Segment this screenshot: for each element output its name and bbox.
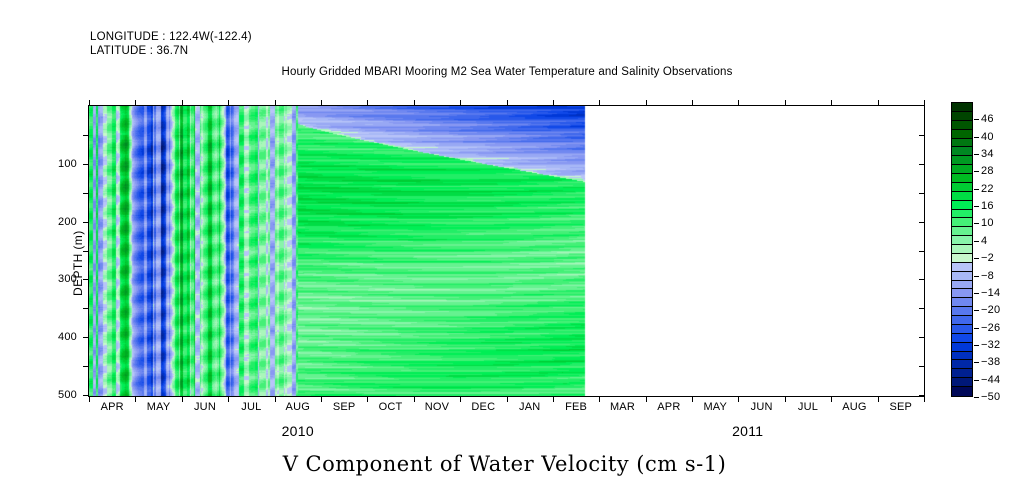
y-axis-title: DEPTH (m) [71,230,85,296]
y-axis-tick [919,337,925,338]
colorbar-label: −44 [981,374,1000,386]
y-axis-tick [83,308,89,309]
x-axis-month-label: MAY [147,401,171,413]
x-axis-tick [785,396,786,402]
y-axis-tick [83,193,89,194]
figure-caption: V Component of Water Velocity (cm s-1) [0,452,1009,476]
x-axis-tick [182,396,183,402]
x-axis-tick [228,396,229,402]
x-axis-tick [878,396,879,402]
colorbar-tick [974,189,979,190]
colorbar-band [952,147,972,156]
colorbar-label: 46 [981,113,994,125]
colorbar-tick [974,345,979,346]
colorbar-band [952,254,972,263]
y-axis-tick [83,366,89,367]
x-axis-month-label: OCT [379,401,403,413]
x-axis-month-label: JUL [241,401,261,413]
colorbar-band [952,263,972,272]
colorbar-band [952,334,972,343]
colorbar-tick [974,119,979,120]
x-axis-tick [553,396,554,402]
y-axis-tick [919,279,925,280]
colorbar-tick [974,223,979,224]
x-axis-tick [460,396,461,402]
y-axis-tick [919,164,925,165]
colorbar-tick [974,310,979,311]
y-axis-tick [83,135,89,136]
x-axis-tick [414,100,415,106]
longitude-text: LONGITUDE : 122.4W(-122.4) [90,30,252,44]
x-axis-tick [599,100,600,106]
y-axis-depth-label: 100 [58,158,77,170]
x-axis-tick [646,100,647,106]
y-axis-tick [919,222,925,223]
y-axis-tick [919,193,925,194]
colorbar-tick [974,328,979,329]
x-axis-tick [831,396,832,402]
colorbar-band [952,121,972,130]
x-axis-tick [738,396,739,402]
x-axis-tick [553,100,554,106]
y-axis-depth-label: 500 [58,389,77,401]
colorbar-band [952,236,972,245]
heatmap-plot-area: DEPTH (m) [88,105,925,397]
x-axis-month-label: DEC [471,401,495,413]
colorbar-label: 40 [981,131,994,143]
colorbar-label: 16 [981,200,994,212]
x-axis-month-label: JUN [751,401,773,413]
x-axis-tick [275,100,276,106]
colorbar-band [952,112,972,121]
station-coordinates: LONGITUDE : 122.4W(-122.4) LATITUDE : 36… [90,30,252,58]
colorbar-band [952,325,972,334]
colorbar-label: −2 [981,252,994,264]
colorbar-tick [974,276,979,277]
colorbar-band [952,130,972,139]
colorbar-band [952,103,972,112]
x-axis-tick [275,396,276,402]
x-axis-tick [785,100,786,106]
colorbar-label: 28 [981,165,994,177]
x-axis-tick [228,100,229,106]
heatmap-clip [89,106,924,396]
y-axis-tick [83,251,89,252]
x-axis-tick [507,100,508,106]
colorbar-band [952,183,972,192]
colorbar-band [952,316,972,325]
y-axis-tick [919,251,925,252]
x-axis-year-label: 2010 [282,423,314,439]
x-axis-month-label: JUL [798,401,818,413]
colorbar-tick [974,397,979,398]
colorbar-band [952,174,972,183]
x-axis-month-label: MAY [703,401,727,413]
colorbar-tick [974,241,979,242]
colorbar-tick [974,137,979,138]
colorbar-label: −14 [981,287,1000,299]
x-axis-tick [692,100,693,106]
y-axis-tick [919,135,925,136]
y-axis-depth-label: 400 [58,331,77,343]
colorbar-band [952,298,972,307]
colorbar-band [952,218,972,227]
colorbar-tick [974,258,979,259]
x-axis-month-label: JAN [519,401,540,413]
x-axis-month-label: APR [101,401,124,413]
colorbar-label: −50 [981,391,1000,403]
x-axis-tick [924,100,925,106]
colorbar-band [952,281,972,290]
chart-title: Hourly Gridded MBARI Mooring M2 Sea Wate… [88,66,926,78]
colorbar-tick [974,154,979,155]
y-axis-depth-label: 200 [58,216,77,228]
x-axis-tick [367,100,368,106]
x-axis-tick [89,396,90,402]
heatmap-canvas [89,106,924,396]
x-axis-tick [460,100,461,106]
x-axis-tick [135,396,136,402]
colorbar-band [952,139,972,148]
x-axis-tick [321,100,322,106]
y-axis-tick [83,222,89,223]
x-axis-month-label: AUG [286,401,310,413]
colorbar-band [952,227,972,236]
colorbar-tick [974,380,979,381]
colorbar-band [952,343,972,352]
x-axis-tick [692,396,693,402]
colorbar-band [952,165,972,174]
colorbar-band [952,289,972,298]
colorbar-band [952,378,972,387]
colorbar-band [952,360,972,369]
colorbar-tick [974,171,979,172]
colorbar-band [952,210,972,219]
colorbar-band [952,369,972,378]
x-axis-month-label: APR [657,401,680,413]
y-axis-tick [919,308,925,309]
y-axis-tick [83,395,89,396]
y-axis-tick [83,164,89,165]
x-axis-month-label: AUG [842,401,866,413]
y-axis-tick [83,279,89,280]
colorbar-label: −26 [981,322,1000,334]
colorbar-band [952,352,972,361]
x-axis-tick [135,100,136,106]
colorbar-band [952,307,972,316]
y-axis-tick [83,337,89,338]
x-axis-tick [182,100,183,106]
x-axis-month-label: JUN [194,401,216,413]
x-axis-tick [831,100,832,106]
x-axis-tick [414,396,415,402]
colorbar [951,102,973,397]
colorbar-label: 34 [981,148,994,160]
x-axis-month-label: FEB [565,401,587,413]
colorbar-band [952,272,972,281]
colorbar-tick [974,362,979,363]
colorbar-band [952,387,972,396]
x-axis-tick [321,396,322,402]
colorbar-tick [974,206,979,207]
x-axis-tick [878,100,879,106]
x-axis-tick [738,100,739,106]
y-axis-tick [919,366,925,367]
colorbar-band [952,245,972,254]
colorbar-tick [974,293,979,294]
colorbar-label: 22 [981,183,994,195]
x-axis-year-label: 2011 [732,423,763,439]
colorbar-label: 4 [981,235,987,247]
x-axis-tick [507,396,508,402]
x-axis-tick [646,396,647,402]
x-axis-tick [367,396,368,402]
x-axis-month-label: SEP [333,401,356,413]
colorbar-label: −32 [981,339,1000,351]
y-axis-depth-label: 300 [58,273,77,285]
colorbar-band [952,156,972,165]
x-axis-month-label: SEP [889,401,912,413]
colorbar-label: −8 [981,270,994,282]
colorbar-label: −38 [981,356,1000,368]
x-axis-tick [599,396,600,402]
y-axis-tick [919,395,925,396]
x-axis-month-label: NOV [425,401,449,413]
colorbar-band [952,201,972,210]
x-axis-month-label: MAR [610,401,635,413]
latitude-text: LATITUDE : 36.7N [90,44,252,58]
x-axis-tick [924,396,925,402]
x-axis-tick [89,100,90,106]
colorbar-label: 10 [981,217,994,229]
colorbar-label: −20 [981,304,1000,316]
colorbar-band [952,192,972,201]
